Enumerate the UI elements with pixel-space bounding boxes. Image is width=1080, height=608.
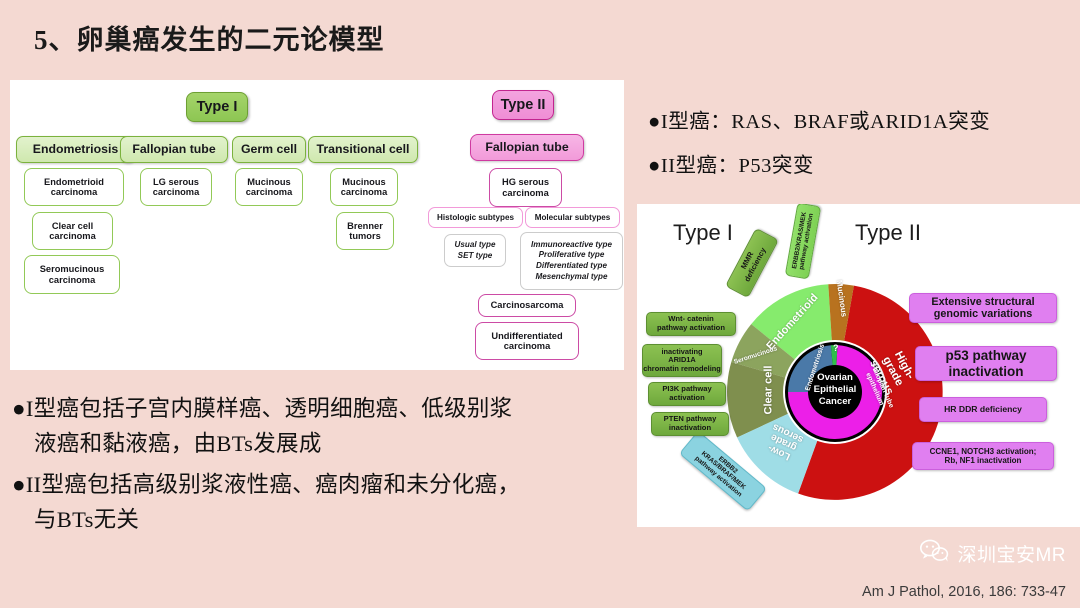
wechat-icon bbox=[920, 539, 950, 568]
inner-label-question: ? bbox=[833, 343, 839, 353]
bottom-bullet-1-line1: ●I型癌包括子宫内膜样癌、透明细胞癌、低级别浆 bbox=[12, 396, 512, 421]
right-figure-panel: Type I Type II bbox=[637, 204, 1080, 527]
type-ii-header-fallopian-tube: Fallopian tube bbox=[470, 134, 584, 161]
chip-hr-ddr-deficiency: HR DDR deficiency bbox=[919, 397, 1047, 422]
bottom-bullet-item-1: ●I型癌包括子宫内膜样癌、透明细胞癌、低级别浆 液癌和黏液癌，由BTs发展成 bbox=[12, 392, 637, 462]
type-ii-leaf-carcinosarcoma: Carcinosarcoma bbox=[478, 294, 576, 317]
outer-label-clear-cell: Clear cell bbox=[762, 366, 774, 415]
type-ii-leaf-hg-serous-carcinoma: HG serous carcinoma bbox=[489, 168, 562, 207]
watermark-text: 深圳宝安MR bbox=[957, 540, 1066, 567]
bottom-bullet-list: ●I型癌包括子宫内膜样癌、透明细胞癌、低级别浆 液癌和黏液癌，由BTs发展成 ●… bbox=[12, 392, 637, 544]
type-i-leaf-mucinous-carcinoma-germ: Mucinous carcinoma bbox=[235, 168, 303, 206]
bottom-bullet-2-line1: ●II型癌包括高级别浆液性癌、癌肉瘤和未分化癌， bbox=[12, 472, 520, 497]
type-i-title: Type I bbox=[186, 92, 248, 122]
type-ii-leaf-undifferentiated-carcinoma: Undifferentiated carcinoma bbox=[475, 322, 579, 360]
page-title: 5、卵巢癌发生的二元论模型 bbox=[34, 18, 385, 57]
type-ii-molecular-subtypes-list: Immunoreactive type Proliferative type D… bbox=[520, 232, 623, 290]
bottom-bullet-item-2: ●II型癌包括高级别浆液性癌、癌肉瘤和未分化癌， 与BTs无关 bbox=[12, 468, 637, 538]
type-i-leaf-brenner-tumors: Brenner tumors bbox=[336, 212, 394, 250]
type-i-leaf-mucinous-carcinoma-transitional: Mucinous carcinoma bbox=[330, 168, 398, 206]
type-ii-subtype-header-molecular: Molecular subtypes bbox=[525, 207, 620, 228]
chip-p53-pathway-inactivation: p53 pathway inactivation bbox=[915, 346, 1057, 381]
type-ii-title: Type II bbox=[492, 90, 554, 120]
chip-wnt-catenin-pathway-activation: Wnt- catenin pathway activation bbox=[646, 312, 736, 336]
type-i-leaf-lg-serous-carcinoma: LG serous carcinoma bbox=[140, 168, 212, 206]
type-i-header-fallopian-tube: Fallopian tube bbox=[120, 136, 228, 163]
right-bullet-item-2: ●II型癌：P53突变 bbox=[648, 148, 1078, 178]
right-bullet-list: ●I型癌：RAS、BRAF或ARID1A突变 ●II型癌：P53突变 bbox=[648, 104, 1078, 192]
type-i-header-transitional-cell: Transitional cell bbox=[308, 136, 418, 163]
type-ii-subtype-header-histologic: Histologic subtypes bbox=[428, 207, 523, 228]
left-figure-panel: Type I Endometriosis Fallopian tube Germ… bbox=[10, 80, 624, 370]
chip-pten-pathway-inactivation: PTEN pathway inactivation bbox=[651, 412, 729, 436]
bottom-bullet-2-line2: 与BTs无关 bbox=[12, 503, 637, 538]
figure-heading-type-ii: Type II bbox=[855, 220, 921, 246]
chip-pi3k-pathway-activation: PI3K pathway activation bbox=[648, 382, 726, 406]
type-i-leaf-endometrioid-carcinoma: Endometrioid carcinoma bbox=[24, 168, 124, 206]
chip-erbb2-kras-mek-pathway-activation: ERBB2/KRAS/MEK pathway activation bbox=[785, 204, 821, 280]
type-i-header-germ-cell: Germ cell bbox=[232, 136, 306, 163]
watermark: 深圳宝安MR bbox=[920, 539, 1066, 568]
type-i-leaf-clear-cell-carcinoma: Clear cell carcinoma bbox=[32, 212, 113, 250]
chip-ccne1-notch3-rb-nf1: CCNE1, NOTCH3 activation; Rb, NF1 inacti… bbox=[912, 442, 1054, 470]
type-i-leaf-seromucinous-carcinoma: Seromucinous carcinoma bbox=[24, 255, 120, 294]
chip-extensive-structural-genomic-variations: Extensive structural genomic variations bbox=[909, 293, 1057, 323]
figure-heading-type-i: Type I bbox=[673, 220, 733, 246]
right-bullet-item-1: ●I型癌：RAS、BRAF或ARID1A突变 bbox=[648, 104, 1078, 134]
citation-text: Am J Pathol, 2016, 186: 733-47 bbox=[862, 584, 1066, 600]
chip-inactivating-arid1a: inactivating ARID1A chromatin remodeling bbox=[642, 344, 722, 377]
bottom-bullet-1-line2: 液癌和黏液癌，由BTs发展成 bbox=[12, 427, 637, 462]
type-ii-histologic-subtypes-list: Usual type SET type bbox=[444, 234, 506, 267]
type-i-header-endometriosis: Endometriosis bbox=[16, 136, 135, 163]
